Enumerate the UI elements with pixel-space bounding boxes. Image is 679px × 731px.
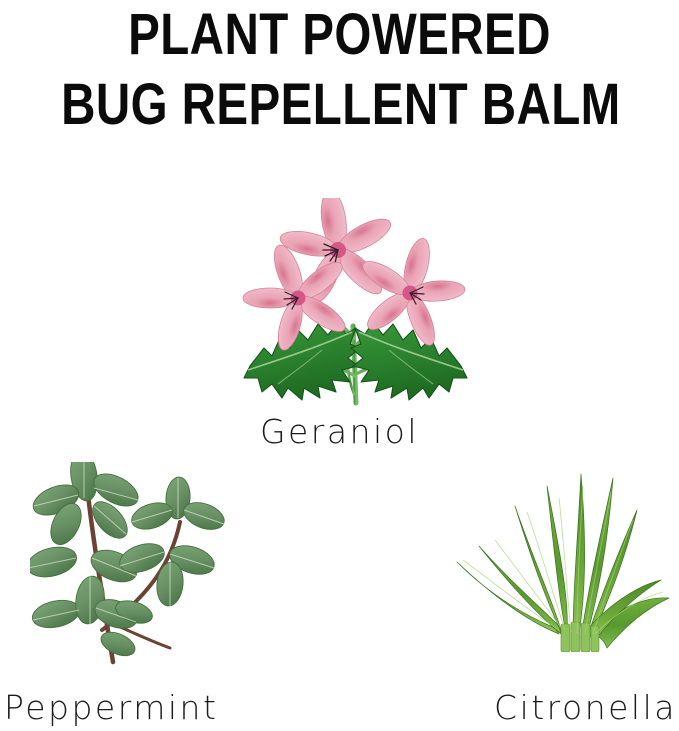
- ingredient-label-peppermint: Peppermint: [4, 688, 218, 727]
- ingredient-geraniol: [238, 198, 473, 408]
- geranium-leaf-left: [244, 322, 360, 400]
- ingredient-label-geraniol: Geraniol: [0, 412, 679, 451]
- ingredient-peppermint: [30, 462, 225, 667]
- product-feature-graphic: PLANT POWERED BUG REPELLENT BALM: [0, 0, 679, 731]
- headline-line-2: BUG REPELLENT BALM: [61, 74, 618, 136]
- ingredient-label-citronella: Citronella: [494, 688, 677, 727]
- headline-line-1: PLANT POWERED: [61, 4, 618, 66]
- geranium-flower-illustration: [238, 198, 473, 408]
- page-title: PLANT POWERED BUG REPELLENT BALM: [0, 0, 679, 136]
- ingredient-citronella: [455, 462, 675, 652]
- citronella-grass-illustration: [455, 462, 675, 652]
- geranium-leaf-right: [351, 322, 467, 400]
- peppermint-sprig-illustration: [30, 462, 225, 667]
